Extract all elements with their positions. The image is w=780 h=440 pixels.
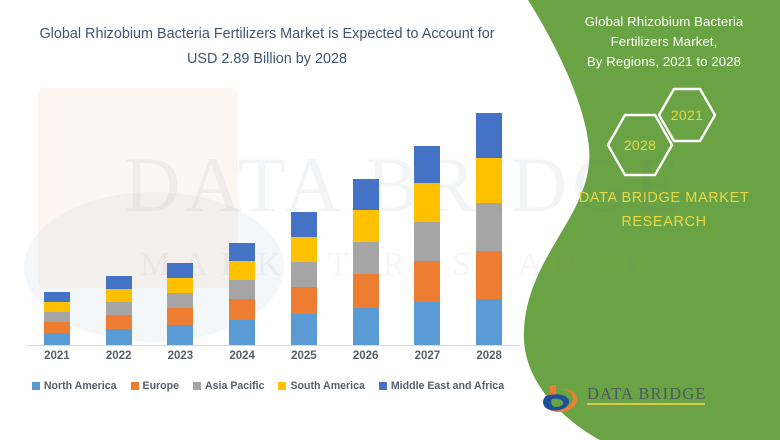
bar-segment-middle-east-and-africa[interactable] (229, 243, 255, 261)
chart-legend: North AmericaEuropeAsia PacificSouth Ame… (18, 376, 518, 396)
infographic-canvas: Global Rhizobium Bacteria Fertilizers Ma… (0, 0, 780, 440)
legend-item-asia-pacific[interactable]: Asia Pacific (193, 380, 264, 392)
bar-segment-europe[interactable] (476, 251, 502, 299)
data-bridge-logo: DATA BRIDGE MARKET RESEARCH (540, 382, 706, 416)
x-tick-2024: 2024 (216, 350, 268, 370)
bar-segment-europe[interactable] (167, 308, 193, 325)
bar-segment-asia-pacific[interactable] (167, 293, 193, 308)
panel-brand-line1: DATA BRIDGE MARKET (548, 186, 780, 210)
data-bridge-logo-text: DATA BRIDGE MARKET RESEARCH (587, 385, 706, 413)
bar-segment-south-america[interactable] (44, 302, 70, 312)
bar-column-2024[interactable] (216, 96, 268, 346)
legend-label: Asia Pacific (205, 380, 264, 392)
bar-segment-north-america[interactable] (353, 308, 379, 346)
x-tick-2028: 2028 (463, 350, 515, 370)
bar-segment-middle-east-and-africa[interactable] (106, 276, 132, 289)
x-tick-2023: 2023 (154, 350, 206, 370)
x-tick-2026: 2026 (340, 350, 392, 370)
bar-segment-middle-east-and-africa[interactable] (476, 113, 502, 158)
stacked-bar[interactable] (476, 113, 502, 346)
bar-segment-europe[interactable] (291, 287, 317, 314)
legend-label: Middle East and Africa (391, 380, 504, 392)
hexagon-2028-label: 2028 (624, 137, 656, 153)
bar-segment-middle-east-and-africa[interactable] (44, 292, 70, 302)
legend-item-south-america[interactable]: South America (278, 380, 364, 392)
logo-divider (587, 403, 705, 405)
x-axis-tick-labels: 20212022202320242025202620272028 (26, 350, 520, 370)
x-tick-2022: 2022 (93, 350, 145, 370)
stacked-bar[interactable] (414, 146, 440, 346)
stacked-bar[interactable] (44, 292, 70, 346)
panel-heading-line2: Fertilizers Market, (557, 32, 772, 52)
bar-segment-north-america[interactable] (476, 299, 502, 346)
bar-segment-europe[interactable] (229, 299, 255, 320)
bar-segment-europe[interactable] (414, 261, 440, 302)
x-tick-2027: 2027 (401, 350, 453, 370)
page-title-line2: USD 2.89 Billion by 2028 (22, 47, 512, 72)
bar-segment-south-america[interactable] (414, 183, 440, 222)
bar-segment-asia-pacific[interactable] (353, 242, 379, 274)
bar-segment-south-america[interactable] (353, 210, 379, 242)
x-tick-2021: 2021 (31, 350, 83, 370)
bar-segment-asia-pacific[interactable] (44, 312, 70, 322)
bar-segment-south-america[interactable] (291, 237, 317, 262)
legend-label: North America (44, 380, 117, 392)
bar-segment-north-america[interactable] (414, 302, 440, 346)
x-tick-2025: 2025 (278, 350, 330, 370)
bar-segment-south-america[interactable] (106, 289, 132, 302)
bar-column-2021[interactable] (31, 96, 83, 346)
logo-title: DATA BRIDGE (587, 385, 706, 402)
bar-segment-asia-pacific[interactable] (476, 203, 502, 251)
bar-segment-europe[interactable] (353, 274, 379, 308)
page-title: Global Rhizobium Bacteria Fertilizers Ma… (22, 22, 512, 72)
bar-segment-europe[interactable] (44, 322, 70, 333)
bar-segment-middle-east-and-africa[interactable] (291, 212, 317, 237)
bar-segment-south-america[interactable] (476, 158, 502, 203)
stacked-bar[interactable] (106, 276, 132, 346)
bar-series-container (26, 96, 520, 346)
chart-plot-area (26, 96, 520, 346)
bar-column-2028[interactable] (463, 96, 515, 346)
panel-heading: Global Rhizobium Bacteria Fertilizers Ma… (557, 12, 772, 72)
stacked-bar[interactable] (167, 263, 193, 346)
legend-swatch-icon (193, 382, 201, 390)
bar-column-2025[interactable] (278, 96, 330, 346)
bar-segment-north-america[interactable] (167, 325, 193, 346)
bar-segment-asia-pacific[interactable] (106, 302, 132, 315)
bar-column-2023[interactable] (154, 96, 206, 346)
panel-brand-text: DATA BRIDGE MARKET RESEARCH (548, 186, 780, 234)
logo-subtitle: MARKET RESEARCH (587, 406, 706, 413)
bar-segment-north-america[interactable] (106, 329, 132, 346)
bar-column-2027[interactable] (401, 96, 453, 346)
bar-segment-asia-pacific[interactable] (229, 280, 255, 299)
legend-label: Europe (143, 380, 180, 392)
legend-swatch-icon (379, 382, 387, 390)
data-bridge-logo-icon (540, 382, 580, 416)
page-title-line1: Global Rhizobium Bacteria Fertilizers Ma… (22, 22, 512, 47)
legend-label: South America (290, 380, 364, 392)
stacked-bar[interactable] (229, 243, 255, 346)
legend-swatch-icon (32, 382, 40, 390)
bar-column-2022[interactable] (93, 96, 145, 346)
legend-swatch-icon (278, 382, 286, 390)
chart-baseline (26, 345, 520, 346)
panel-heading-line3: By Regions, 2021 to 2028 (557, 52, 772, 72)
stacked-bar[interactable] (353, 179, 379, 346)
panel-heading-line1: Global Rhizobium Bacteria (557, 12, 772, 32)
bar-segment-asia-pacific[interactable] (291, 262, 317, 287)
hexagon-2021: 2021 (656, 86, 718, 144)
legend-item-middle-east-and-africa[interactable]: Middle East and Africa (379, 380, 504, 392)
hexagon-2021-label: 2021 (671, 107, 703, 123)
bar-segment-middle-east-and-africa[interactable] (167, 263, 193, 278)
legend-swatch-icon (131, 382, 139, 390)
bar-segment-middle-east-and-africa[interactable] (414, 146, 440, 183)
legend-item-europe[interactable]: Europe (131, 380, 180, 392)
legend-item-north-america[interactable]: North America (32, 380, 117, 392)
bar-segment-asia-pacific[interactable] (414, 222, 440, 261)
bar-segment-south-america[interactable] (167, 278, 193, 293)
green-panel-content: Global Rhizobium Bacteria Fertilizers Ma… (548, 0, 780, 360)
bar-segment-south-america[interactable] (229, 261, 255, 280)
hexagon-group: 2028 2021 (588, 86, 738, 178)
bar-segment-north-america[interactable] (291, 314, 317, 346)
panel-brand-line2: RESEARCH (548, 210, 780, 234)
bar-segment-middle-east-and-africa[interactable] (353, 179, 379, 210)
bar-column-2026[interactable] (340, 96, 392, 346)
bar-segment-north-america[interactable] (229, 320, 255, 346)
stacked-bar[interactable] (291, 212, 317, 346)
bar-segment-europe[interactable] (106, 315, 132, 329)
